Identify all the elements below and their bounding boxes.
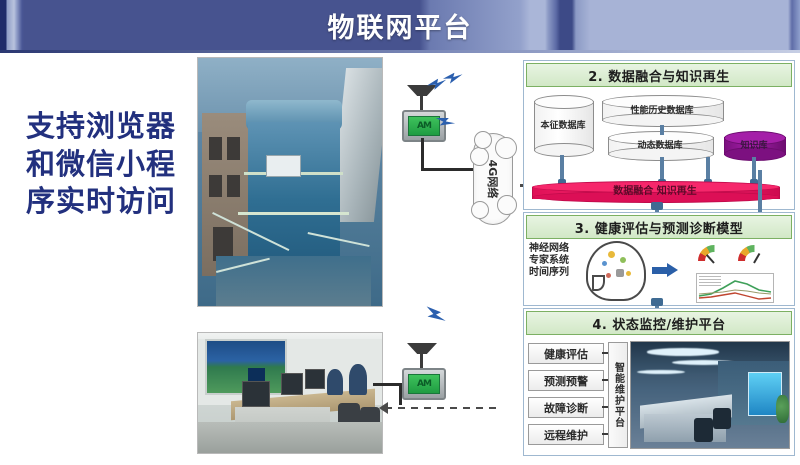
panel-health-assessment: 3. 健康评估与预测诊断模型 神经网络 专家系统 时间序列 [523, 212, 795, 306]
platform-vertical-label: 智能维护平台 [608, 342, 628, 448]
panel-2-title: 2. 数据融合与知识再生 [526, 63, 792, 87]
gateway-wire [399, 383, 402, 405]
function-button-health[interactable]: 健康评估 [528, 343, 604, 364]
gateway-wire [421, 138, 424, 170]
model-term-1: 神经网络 [529, 243, 569, 255]
function-button-diagnosis[interactable]: 故障诊断 [528, 397, 604, 418]
function-button-remote[interactable]: 远程维护 [528, 424, 604, 445]
panel-monitoring-platform: 4. 状态监控/维护平台 健康评估 预测预警 故障诊断 远程维护 智能维护平台 [523, 308, 795, 456]
cloud-label: 4G网络 [485, 160, 501, 199]
left-caption-text: 支持浏览器和微信小程序实时访问 [26, 108, 176, 221]
gateway-device-top: AM [402, 110, 446, 142]
platform-vertical-label-text: 智能维护平台 [611, 362, 626, 428]
db-intrinsic-label: 本征数据库 [534, 95, 592, 157]
gateway-screen-label-top: AM [408, 116, 440, 136]
control-room-photo [197, 332, 383, 454]
gateway-device-bottom: AM [402, 368, 446, 400]
trend-chart-icon [696, 273, 774, 303]
gateway-wire [421, 168, 475, 171]
db-dynamic: 动态数据库 [608, 131, 712, 161]
db-performance-history: 性能历史数据库 [602, 95, 722, 127]
network-layer: AM 4G网络 AM [385, 55, 535, 455]
db-knowledge: 知识库 [724, 131, 784, 161]
panel2-panel3-node [651, 202, 663, 210]
process-arrow-icon [652, 263, 678, 277]
network-cloud: 4G网络 [473, 133, 513, 225]
feedback-arrow-line [385, 407, 497, 409]
signal-bolt-icon [422, 303, 448, 328]
model-term-2: 专家系统 [529, 255, 569, 267]
panel-4-title: 4. 状态监控/维护平台 [526, 311, 792, 335]
panel-data-fusion: 2. 数据融合与知识再生 本征数据库 性能历史数据库 动态数据 [523, 60, 795, 210]
db-dynamic-label: 动态数据库 [608, 131, 712, 161]
title-underline [0, 50, 800, 53]
page-title: 物联网平台 [0, 0, 800, 50]
slide-root: 物联网平台 支持浏览器和微信小程序实时访问 [0, 0, 800, 465]
operations-center-photo [630, 341, 790, 449]
fusion-bar: 数据融合 知识再生 [532, 181, 778, 203]
panel-4-body: 健康评估 预测预警 故障诊断 远程维护 智能维护平台 [524, 337, 794, 453]
db-performance-history-label: 性能历史数据库 [602, 95, 722, 127]
panel-2-body: 本征数据库 性能历史数据库 动态数据库 知识库 [524, 89, 794, 207]
gauge-icon-2 [738, 245, 770, 265]
model-term-3: 时间序列 [529, 267, 569, 279]
model-terms: 神经网络 专家系统 时间序列 [529, 243, 569, 280]
antenna-mast-icon [420, 95, 423, 111]
panel3-panel4-node [651, 298, 663, 306]
gauge-icon-1 [698, 245, 730, 265]
feedback-arrow-head-icon [379, 402, 388, 414]
db-knowledge-label: 知识库 [724, 131, 784, 161]
gateway-wire [373, 383, 401, 386]
signal-bolt-icon [442, 71, 463, 84]
head-brain-icon [586, 241, 646, 301]
function-button-prediction[interactable]: 预测预警 [528, 370, 604, 391]
panel-3-title: 3. 健康评估与预测诊断模型 [526, 215, 792, 239]
mill-photo [197, 57, 383, 307]
db-intrinsic: 本征数据库 [534, 95, 592, 157]
panel-3-body: 神经网络 专家系统 时间序列 [524, 241, 794, 303]
antenna-mast-icon [420, 353, 423, 369]
fusion-bar-label: 数据融合 知识再生 [532, 181, 778, 203]
gateway-screen-label-bottom: AM [408, 374, 440, 394]
